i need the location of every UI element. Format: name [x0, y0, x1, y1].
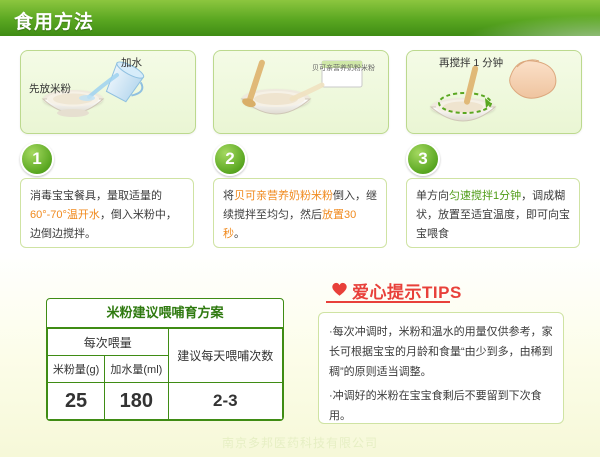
step-3-text-highlight: 匀速搅拌1分钟 [449, 190, 521, 202]
step-1-text-part-1: 消毒宝宝餐具，量取适量的 [30, 190, 162, 202]
table-row: 25 180 2-3 [48, 383, 283, 420]
page-title: 食用方法 [14, 7, 94, 34]
step-1-number-badge: 1 [20, 142, 54, 176]
feeding-table-value-powder: 25 [48, 383, 105, 420]
step-2-text-highlight-1: 贝可亲营养奶粉米粉 [234, 190, 333, 202]
table-row: 每次喂量 建议每天喂哺次数 [48, 329, 283, 356]
step-3-description: 单方向匀速搅拌1分钟，调成糊状，放置至适宜温度，即可向宝宝喂食 [406, 178, 580, 248]
feeding-table: 米粉建议喂哺育方案 每次喂量 建议每天喂哺次数 米粉量(g) 加水量(ml) 2… [46, 298, 284, 421]
step-1-caption-1: 先放米粉 [29, 81, 71, 96]
feeding-table-grid: 每次喂量 建议每天喂哺次数 米粉量(g) 加水量(ml) 25 180 2-3 [47, 328, 283, 420]
step-1-text-highlight: 60°-70°温开水 [30, 209, 100, 221]
tips-box: ·每次冲调时，米粉和温水的用量仅供参考，家长可根据宝宝的月龄和食量“由少到多，由… [318, 312, 564, 424]
feeding-table-value-water: 180 [105, 383, 168, 420]
step-1-description: 消毒宝宝餐具，量取适量的60°-70°温开水，倒入米粉中，边倒边搅拌。 [20, 178, 194, 248]
step-3-illustration-panel: 再搅拌 1 分钟 [406, 50, 582, 134]
step-3-text-part-1: 单方向 [416, 190, 449, 202]
footer-watermark: 南京多邦医药科技有限公司 [0, 434, 600, 451]
feeding-table-title: 米粉建议喂哺育方案 [47, 299, 283, 328]
feeding-table-header-frequency: 建议每天喂哺次数 [168, 329, 282, 383]
feeding-table-col-water: 加水量(ml) [105, 356, 168, 383]
step-2-description: 将贝可亲营养奶粉米粉倒入，继续搅拌至均匀，然后放置30秒。 [213, 178, 387, 248]
tips-item-1: ·每次冲调时，米粉和温水的用量仅供参考，家长可根据宝宝的月龄和食量“由少到多，由… [329, 322, 553, 382]
step-3-number-badge: 3 [406, 142, 440, 176]
page-header: 食用方法 [0, 0, 600, 38]
page-root: 食用方法 [0, 0, 600, 457]
step-1-illustration-panel: 先放米粉 加水 [20, 50, 196, 134]
step-2-text-part-5: 。 [234, 228, 245, 240]
header-swoosh-decoration [350, 0, 600, 36]
step-2-caption-1: 贝可亲营养奶粉米粉 [312, 63, 375, 73]
tips-heading: 爱心提示TIPS [352, 278, 462, 303]
tips-underline [326, 301, 450, 303]
step-2-number-badge: 2 [213, 142, 247, 176]
feeding-table-value-frequency: 2-3 [168, 383, 282, 420]
step-1-caption-2: 加水 [121, 55, 142, 70]
step-2-illustration-panel: 贝可亲营养奶粉米粉 [213, 50, 389, 134]
heart-icon [331, 281, 348, 297]
feeding-table-header-amount: 每次喂量 [48, 329, 169, 356]
step-2-text-part-1: 将 [223, 190, 234, 202]
step-3-caption-1: 再搅拌 1 分钟 [439, 55, 503, 70]
tips-item-2: ·冲调好的米粉在宝宝食剩后不要留到下次食用。 [329, 386, 553, 426]
feeding-table-col-powder: 米粉量(g) [48, 356, 105, 383]
